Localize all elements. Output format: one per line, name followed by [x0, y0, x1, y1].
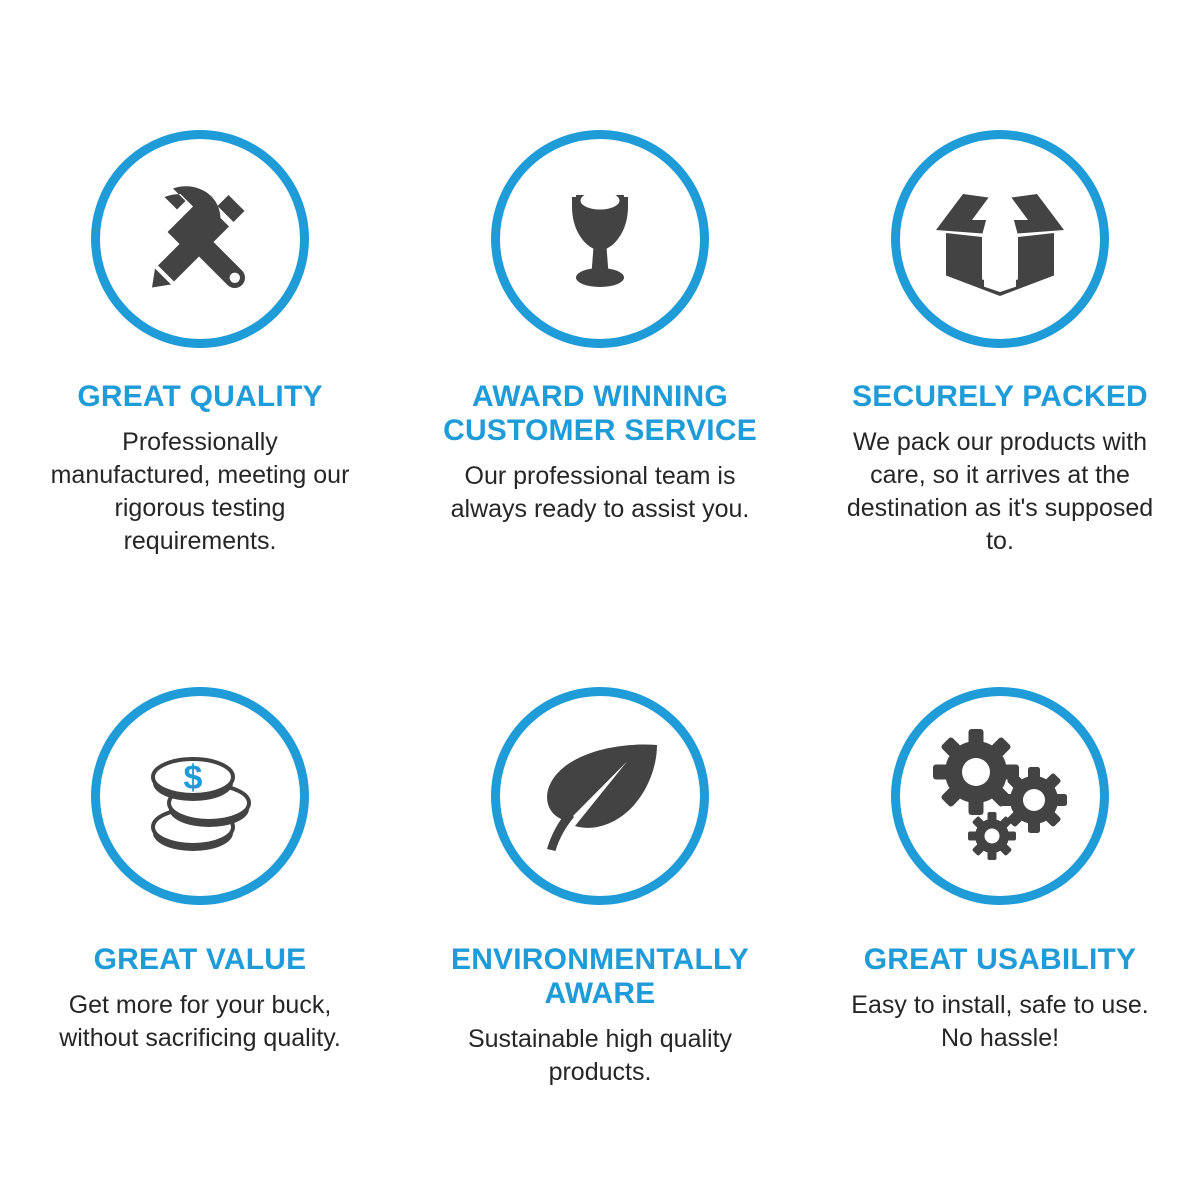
feature-card-great-usability[interactable]: GREAT USABILITY Easy to install, safe to…	[800, 600, 1200, 1180]
feature-card-great-quality[interactable]: GREAT QUALITY Professionally manufacture…	[0, 20, 400, 600]
feature-title: ENVIRONMENTALLY AWARE	[405, 943, 795, 1011]
icon-badge-great-value: $	[91, 687, 309, 905]
icon-badge-great-quality	[91, 130, 309, 348]
features-grid: GREAT QUALITY Professionally manufacture…	[0, 0, 1200, 1200]
leaf-icon	[535, 731, 665, 861]
feature-title: GREAT USABILITY	[810, 943, 1190, 977]
open-box-arrow-icon	[932, 176, 1068, 302]
wrench-pencil-icon	[134, 173, 266, 305]
feature-body: Sustainable high quality products.	[445, 1023, 755, 1089]
feature-body: Easy to install, safe to use. No hassle!	[835, 989, 1165, 1055]
icon-badge-environmentally-aware	[491, 687, 709, 905]
feature-card-environmentally-aware[interactable]: ENVIRONMENTALLY AWARE Sustainable high q…	[400, 600, 800, 1180]
feature-title: GREAT VALUE	[15, 943, 385, 977]
feature-card-great-value[interactable]: $ GREAT VALUE Get more for your buck, wi…	[0, 600, 400, 1180]
coin-stack-dollar-icon: $	[137, 733, 263, 859]
gears-icon	[930, 728, 1070, 864]
features-board: GREAT QUALITY Professionally manufacture…	[0, 0, 1200, 1200]
feature-card-award-winning-customer-service[interactable]: AWARD WINNING CUSTOMER SERVICE Our profe…	[400, 20, 800, 600]
feature-title: SECURELY PACKED	[810, 380, 1190, 414]
icon-badge-great-usability	[891, 687, 1109, 905]
feature-card-securely-packed[interactable]: SECURELY PACKED We pack our products wit…	[800, 20, 1200, 600]
svg-text:$: $	[184, 759, 203, 797]
feature-body: Our professional team is always ready to…	[445, 460, 755, 526]
feature-title: GREAT QUALITY	[15, 380, 385, 414]
icon-badge-securely-packed	[891, 130, 1109, 348]
icon-badge-award-winning-customer-service	[491, 130, 709, 348]
trophy-icon	[534, 173, 666, 305]
feature-body: Get more for your buck, without sacrific…	[50, 989, 350, 1055]
feature-title: AWARD WINNING CUSTOMER SERVICE	[405, 380, 795, 448]
feature-body: Professionally manufactured, meeting our…	[50, 426, 350, 558]
feature-body: We pack our products with care, so it ar…	[835, 426, 1165, 558]
